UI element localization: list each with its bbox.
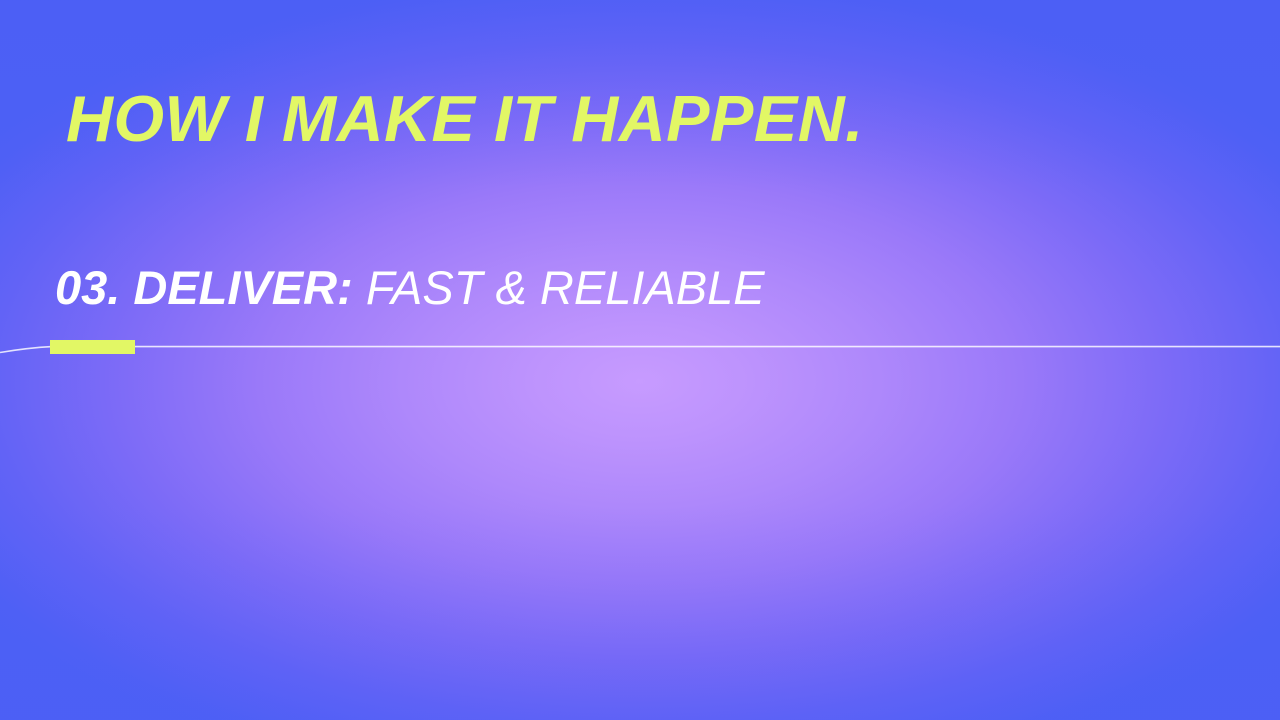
subheadline-label: 03. DELIVER: (55, 261, 353, 314)
slide-headline: HOW I MAKE IT HAPPEN. (66, 86, 864, 152)
slide-subheadline: 03. DELIVER: FAST & RELIABLE (55, 263, 765, 312)
subheadline-separator (353, 261, 366, 314)
section-divider (0, 330, 1280, 366)
presentation-slide: HOW I MAKE IT HAPPEN. 03. DELIVER: FAST … (0, 0, 1280, 720)
accent-bar (50, 340, 135, 354)
divider-line-icon (0, 330, 1280, 366)
subheadline-value: FAST & RELIABLE (366, 261, 765, 314)
slide-content: HOW I MAKE IT HAPPEN. 03. DELIVER: FAST … (0, 0, 1280, 720)
